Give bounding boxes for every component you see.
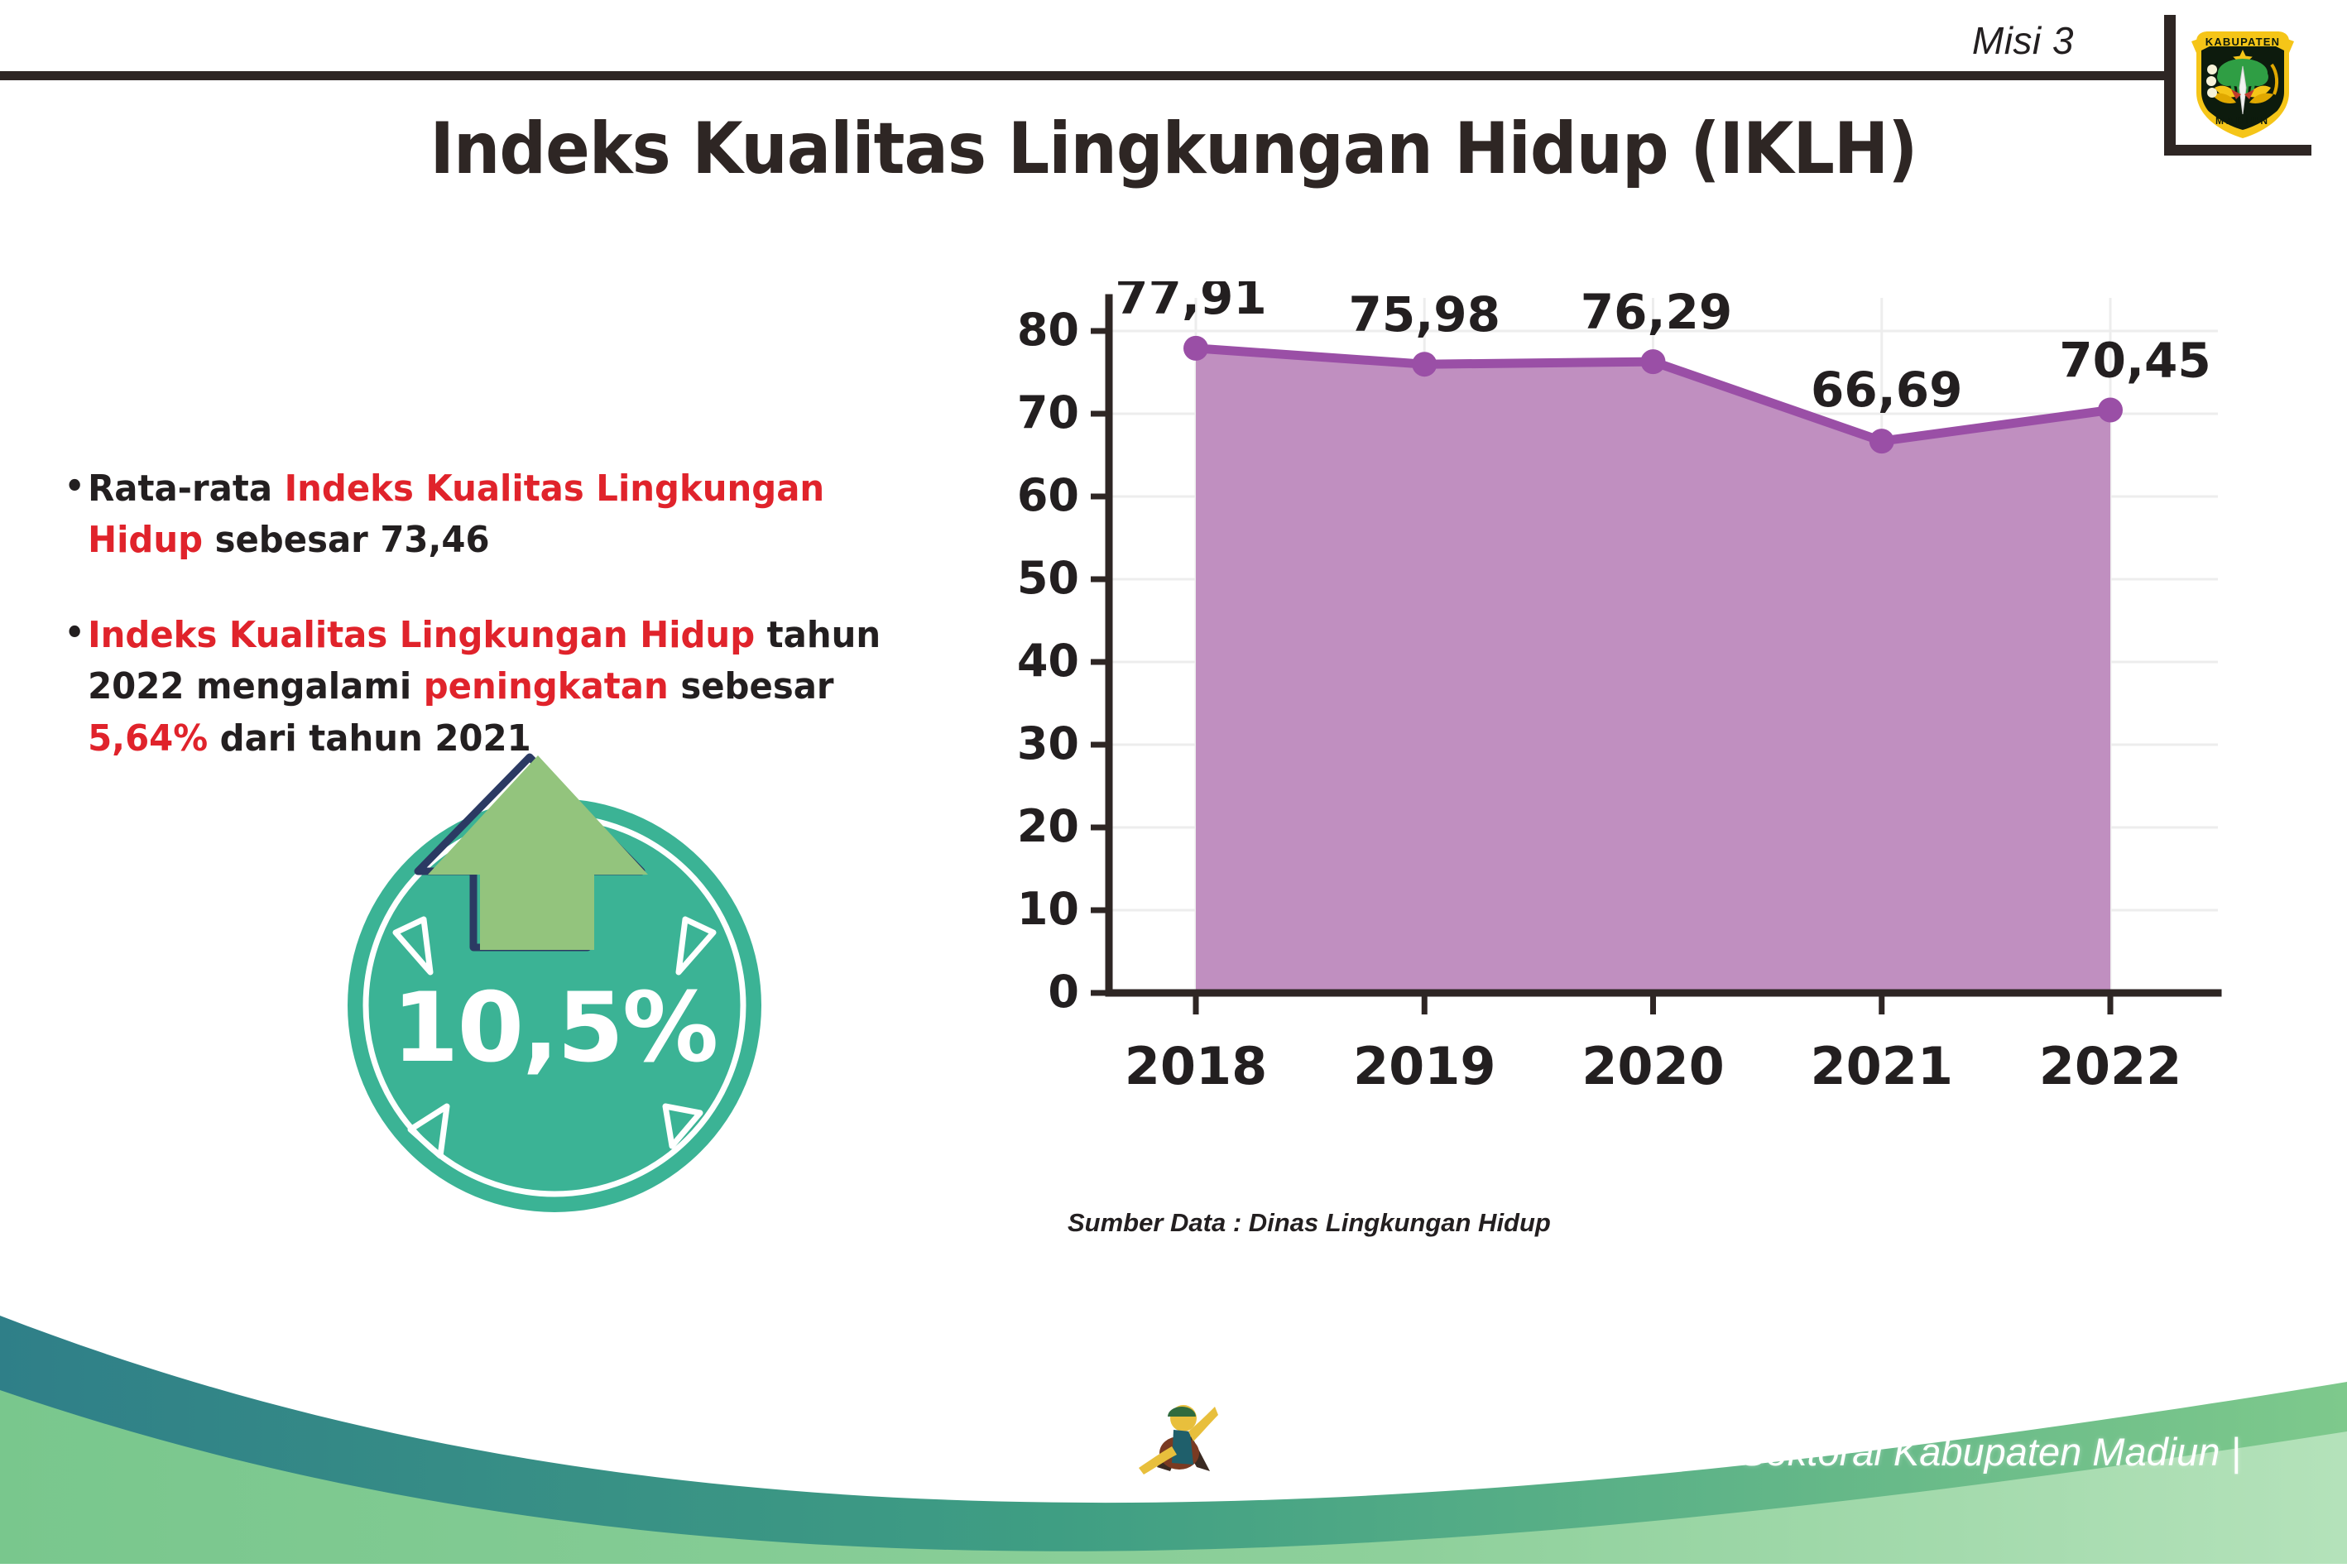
svg-text:50: 50 [1017,552,1079,604]
svg-text:20: 20 [1017,800,1079,852]
svg-text:2019: 2019 [1353,1036,1496,1096]
list-item: • Rata-rata Indeks Kualitas Lingkungan H… [65,463,914,567]
svg-text:0: 0 [1048,966,1079,1018]
svg-text:80: 80 [1017,304,1079,356]
svg-text:KABUPATEN: KABUPATEN [2205,36,2280,48]
svg-text:2021: 2021 [1810,1036,1953,1096]
badge-value: 10,5% [331,972,778,1084]
bullet-part-highlight: 5,64% [88,717,208,760]
bullet-part: sebesar 73,46 [203,519,490,561]
svg-text:2022: 2022 [2039,1036,2182,1096]
bullet-part: Rata-rata [88,468,285,510]
svg-text:66,69: 66,69 [1811,362,1962,418]
page-title: Indeks Kualitas Lingkungan Hidup (IKLH) [94,108,2253,190]
header-divider-rule [0,71,2168,80]
svg-text:2018: 2018 [1125,1036,1268,1096]
svg-text:75,98: 75,98 [1349,286,1500,343]
source-note: Sumber Data : Dinas Lingkungan Hidup [1068,1208,1551,1238]
svg-text:70,45: 70,45 [2059,333,2210,389]
footer-label: Media Infografis Data Statistik Sektoral… [1212,1429,2241,1474]
bps-statistik-logo-icon [1132,1388,1223,1504]
increase-badge: 10,5% [331,749,778,1212]
svg-text:77,91: 77,91 [1115,281,1266,325]
svg-text:70: 70 [1017,386,1079,439]
bullet-text: Rata-rata Indeks Kualitas Lingkungan Hid… [88,463,914,567]
bullet-marker: • [65,463,84,511]
svg-text:30: 30 [1017,717,1079,770]
list-item: • Indeks Kualitas Lingkungan Hidup tahun… [65,610,914,765]
svg-text:40: 40 [1017,635,1079,687]
svg-text:60: 60 [1017,469,1079,521]
bullet-text: Indeks Kualitas Lingkungan Hidup tahun 2… [88,610,914,765]
svg-text:2020: 2020 [1581,1036,1725,1096]
bullet-marker: • [65,610,84,657]
bullet-part: sebesar [669,665,834,707]
iklh-area-chart: 010203040506070802018201920202021202277,… [977,281,2268,1208]
bullet-part-highlight: Indeks Kualitas Lingkungan Hidup [88,614,755,656]
misi-label: Misi 3 [1972,18,2074,63]
bullet-part-highlight: peningkatan [424,665,669,707]
svg-text:76,29: 76,29 [1581,284,1732,340]
svg-text:10: 10 [1017,883,1079,935]
